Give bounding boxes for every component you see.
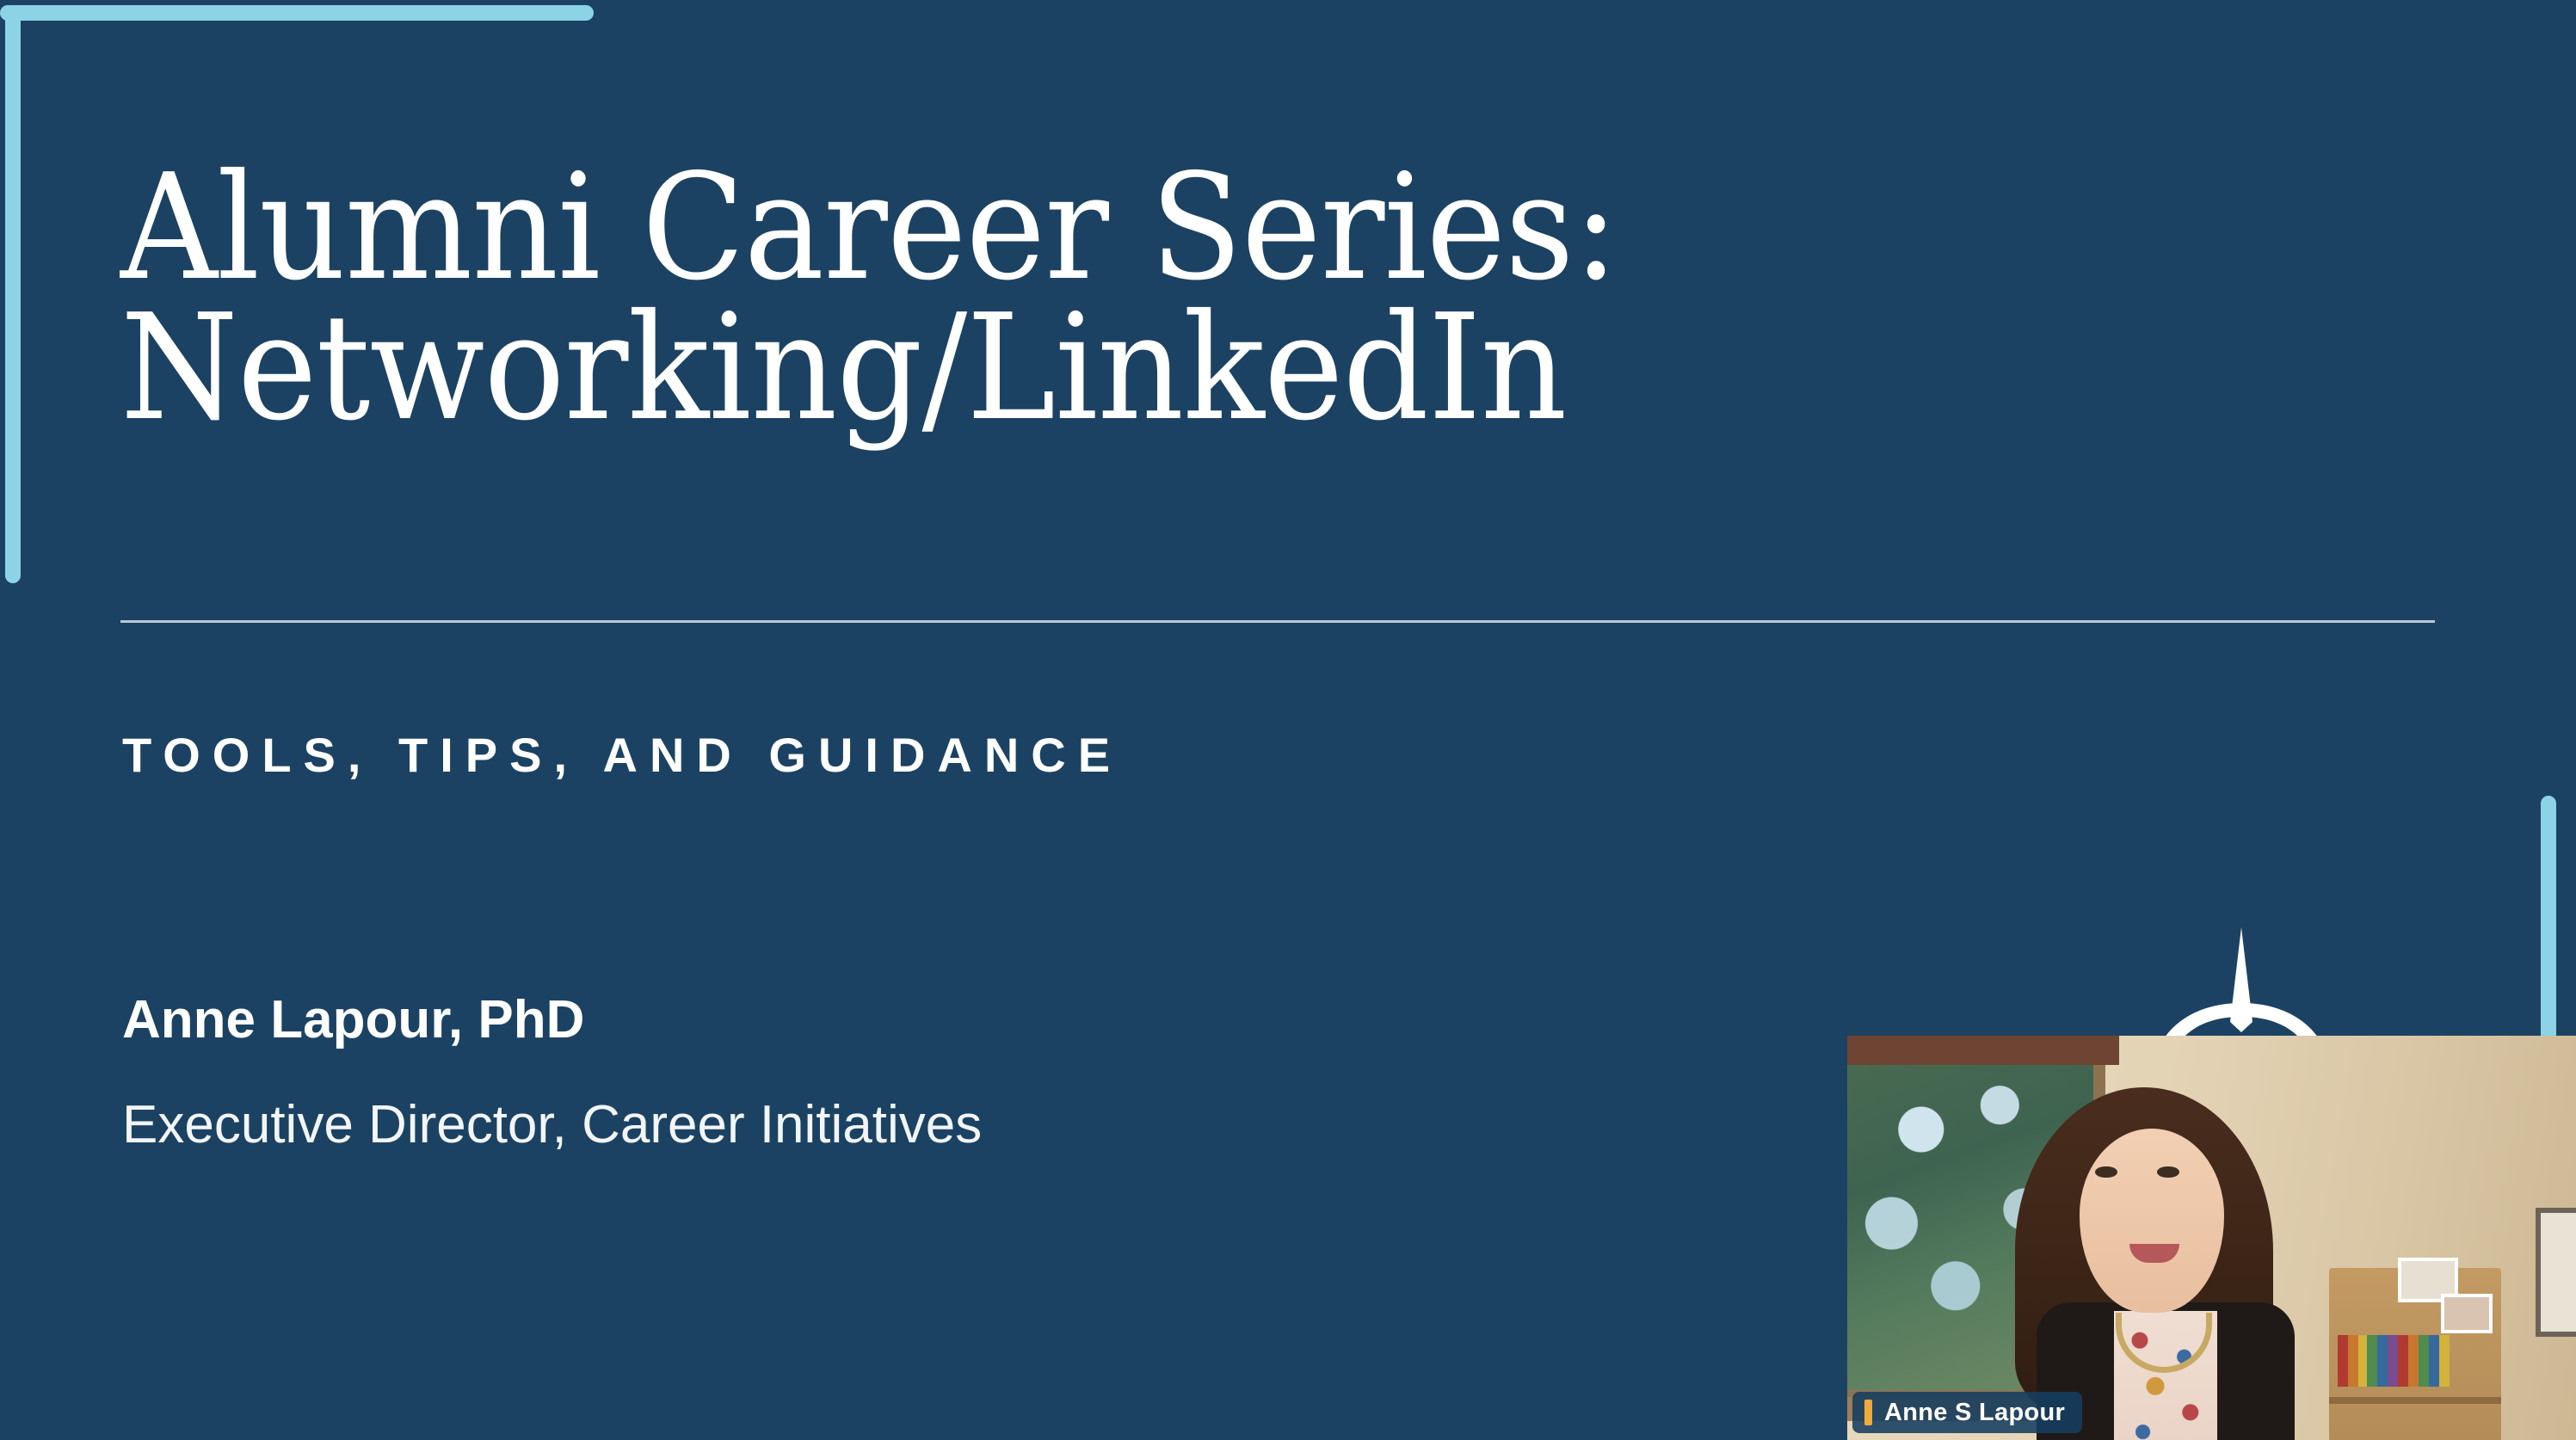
video-picture-frame-small-2 [2441, 1294, 2493, 1333]
slide-subtitle: TOOLS, TIPS, AND GUIDANCE [122, 727, 1122, 783]
presenter-role: Executive Director, Career Initiatives [122, 1094, 982, 1155]
participant-eye-right [2157, 1166, 2179, 1178]
video-window-frame [1847, 1036, 2119, 1065]
slide-title: Alumni Career Series: Networking/LinkedI… [120, 155, 2444, 443]
microphone-indicator-icon [1864, 1400, 1872, 1425]
presentation-slide: Alumni Career Series: Networking/LinkedI… [0, 0, 2576, 1440]
bracket-left-accent [5, 5, 21, 583]
bracket-top-accent [0, 5, 594, 21]
participant-face [2080, 1129, 2224, 1313]
title-line-1: Alumni Career Series: [120, 155, 2258, 301]
video-thumbnail[interactable] [1847, 1036, 2576, 1440]
video-wall-certificate [2536, 1208, 2576, 1337]
video-participant-figure [1985, 1087, 2355, 1440]
participant-eye-left [2095, 1166, 2117, 1178]
participant-name-label: Anne S Lapour [1852, 1392, 2082, 1433]
title-line-2: Networking/LinkedIn [120, 294, 2258, 443]
presenter-name: Anne Lapour, PhD [122, 989, 584, 1050]
title-divider [120, 620, 2435, 623]
participant-name-text: Anne S Lapour [1884, 1399, 2065, 1427]
